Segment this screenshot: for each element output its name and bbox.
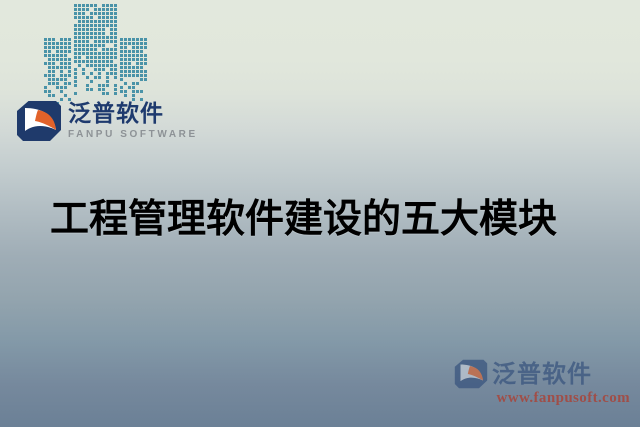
fanpu-logo-mark (16, 100, 62, 142)
watermark-name-cn: 泛普软件 (492, 362, 592, 386)
cityscape-building-1 (44, 38, 72, 106)
watermark-url: www.fanpusoft.com (454, 390, 630, 407)
banner-canvas: 泛普软件 FANPU SOFTWARE 工程管理软件建设的五大模块 泛普软件 w… (0, 0, 640, 427)
cityscape-building-3 (120, 38, 148, 106)
fanpu-logo-name-cn: 泛普软件 (68, 103, 198, 126)
fanpu-logo-wordmark: 泛普软件 FANPU SOFTWARE (68, 103, 198, 140)
cityscape-building-2 (74, 4, 118, 100)
fanpu-logo-name-en: FANPU SOFTWARE (68, 130, 198, 140)
fanpu-logo: 泛普软件 FANPU SOFTWARE (16, 100, 198, 142)
watermark: 泛普软件 www.fanpusoft.com (454, 359, 630, 415)
page-title: 工程管理软件建设的五大模块 (50, 188, 557, 244)
pixel-cityscape-graphic (44, 4, 144, 100)
fanpu-watermark-mark (454, 359, 488, 389)
watermark-logo: 泛普软件 (454, 359, 630, 389)
